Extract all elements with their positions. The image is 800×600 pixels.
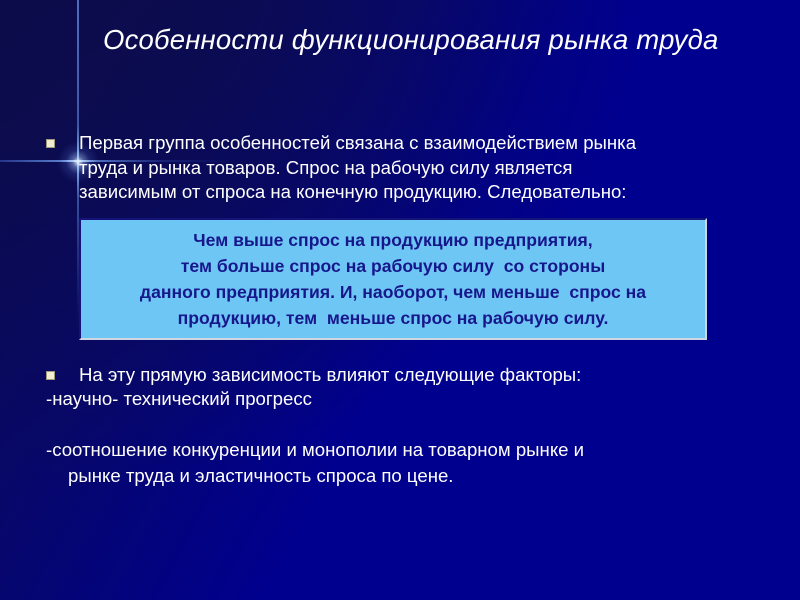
bullet-first-line-2: труда и рынка товаров. Спрос на рабочую … bbox=[79, 156, 762, 181]
last-paragraph: -соотношение конкуренции и монополии на … bbox=[46, 437, 760, 489]
presentation-slide: Особенности функционирования рынка труда… bbox=[0, 0, 800, 600]
callout-line-1: Чем выше спрос на продукцию предприятия, bbox=[193, 227, 592, 253]
bullet-second-text: На эту прямую зависимость влияют следующ… bbox=[79, 363, 581, 388]
slide-title: Особенности функционирования рынка труда bbox=[103, 23, 723, 56]
bullet-item-first: Первая группа особенностей связана с вза… bbox=[46, 131, 762, 205]
bullet-first-text: Первая группа особенностей связана с вза… bbox=[79, 131, 762, 205]
last-paragraph-line-2: рынке труда и эластичность спроса по цен… bbox=[46, 463, 760, 489]
bullet-first-line-1: Первая группа особенностей связана с вза… bbox=[79, 131, 762, 156]
bullet-item-second: На эту прямую зависимость влияют следующ… bbox=[46, 363, 762, 388]
callout-line-2: тем больше спрос на рабочую силу со стор… bbox=[181, 253, 605, 279]
callout-line-4: продукцию, тем меньше спрос на рабочую с… bbox=[178, 305, 609, 331]
square-bullet-icon bbox=[46, 371, 55, 380]
bullet-first-line-3: зависимым от спроса на конечную продукци… bbox=[79, 180, 762, 205]
highlight-callout-box: Чем выше спрос на продукцию предприятия,… bbox=[79, 218, 707, 340]
callout-line-3: данного предприятия. И, наоборот, чем ме… bbox=[140, 279, 646, 305]
sub-factor-line: -научно- технический прогресс bbox=[46, 387, 746, 412]
last-paragraph-line-1: -соотношение конкуренции и монополии на … bbox=[46, 437, 760, 463]
square-bullet-icon bbox=[46, 139, 55, 148]
